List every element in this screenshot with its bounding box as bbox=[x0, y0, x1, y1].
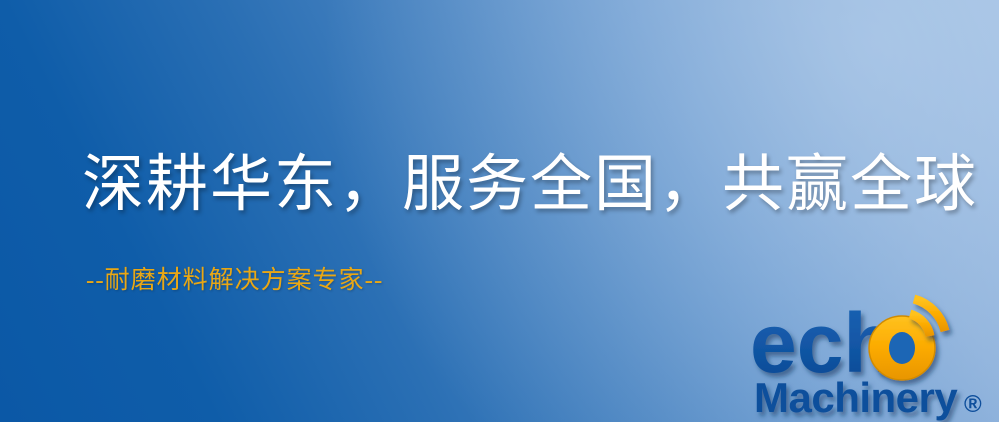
promotional-banner: 深耕华东，服务全国，共赢全球 --耐磨材料解决方案专家-- bbox=[0, 0, 999, 422]
logo-tagline: Machinery bbox=[754, 374, 958, 421]
echo-machinery-logo[interactable]: ech Machinery ® bbox=[748, 300, 999, 422]
banner-headline: 深耕华东，服务全国，共赢全球 bbox=[82, 154, 978, 216]
banner-subtitle: --耐磨材料解决方案专家-- bbox=[86, 268, 383, 293]
registered-trademark-icon: ® bbox=[964, 391, 982, 418]
